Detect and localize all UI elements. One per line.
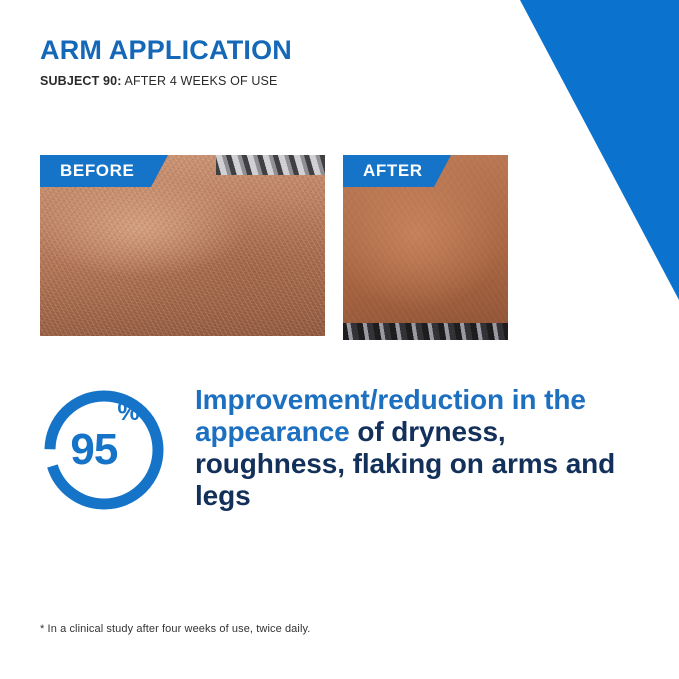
after-label-tag: AFTER (343, 155, 451, 187)
statistic-number: 95 (70, 428, 117, 472)
statistic-description: Improvement/reduction in the appearance … (195, 384, 645, 512)
subject-subtitle: SUBJECT 90: AFTER 4 WEEKS OF USE (40, 74, 292, 88)
progress-ring: 95% (40, 386, 168, 514)
background-band-before (216, 155, 325, 175)
statistic-value: 95% (40, 386, 168, 514)
page-title: ARM APPLICATION (40, 36, 292, 65)
subject-duration: AFTER 4 WEEKS OF USE (122, 74, 278, 88)
after-photo: AFTER (343, 155, 508, 340)
footnote: * In a clinical study after four weeks o… (40, 623, 310, 635)
header: ARM APPLICATION SUBJECT 90: AFTER 4 WEEK… (40, 36, 292, 88)
subject-label: SUBJECT 90: (40, 74, 122, 88)
before-label-tag: BEFORE (40, 155, 168, 187)
statistic-percent-sign: % (117, 400, 139, 425)
before-photo: BEFORE (40, 155, 325, 336)
background-band-after (343, 323, 508, 340)
promo-card: ARM APPLICATION SUBJECT 90: AFTER 4 WEEK… (0, 0, 679, 679)
